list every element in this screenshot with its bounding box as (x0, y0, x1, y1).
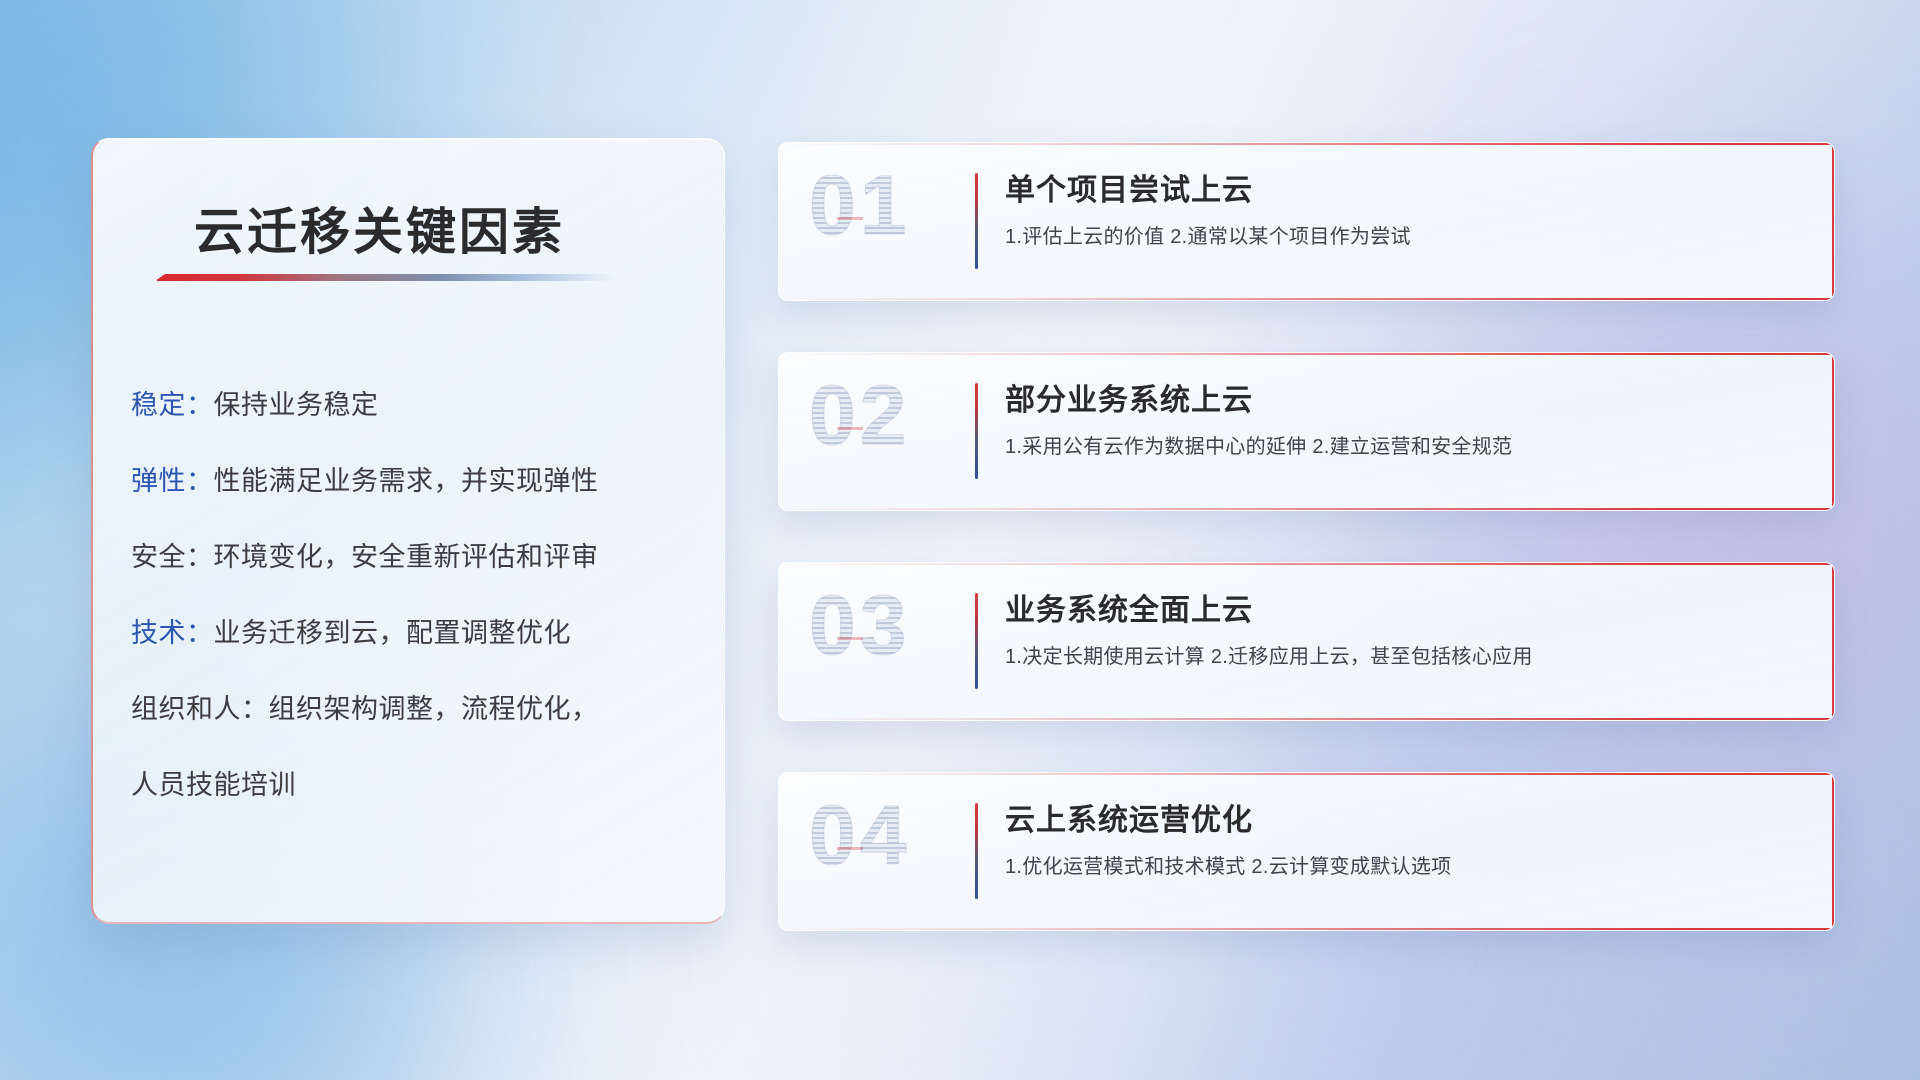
list-item: 组织和人：组织架构调整，流程优化， (131, 671, 698, 747)
step-text-block: 云上系统运营优化 1.优化运营模式和技术模式 2.云计算变成默认选项 (1005, 795, 1804, 887)
list-item-text: 环境变化，安全重新评估和评审 (214, 542, 599, 572)
card-bottom-accent-line (779, 928, 1834, 930)
step-title: 业务系统全面上云 (1005, 585, 1804, 637)
card-bottom-accent-line (779, 508, 1834, 510)
list-item-key: 安全： (131, 542, 214, 572)
key-factors-card: 云迁移关键因素 稳定：保持业务稳定 弹性：性能满足业务需求，并实现弹性 安全：环… (91, 138, 725, 924)
list-item-key: 弹性： (131, 466, 214, 496)
step-number-04: 04 (809, 787, 910, 884)
list-item-text: 保持业务稳定 (214, 390, 379, 420)
card-right-accent-line (1832, 773, 1834, 930)
card-bottom-accent-line (779, 298, 1834, 300)
step-text-block: 业务系统全面上云 1.决定长期使用云计算 2.迁移应用上云，甚至包括核心应用 (1005, 585, 1804, 677)
list-item-key: 组织和人： (131, 694, 269, 724)
step-number-02: 02 (809, 367, 910, 464)
step-divider-bar (975, 593, 978, 689)
step-card-03[interactable]: 03 03 业务系统全面上云 1.决定长期使用云计算 2.迁移应用上云，甚至包括… (778, 562, 1835, 721)
list-item: 技术：业务迁移到云，配置调整优化 (131, 595, 698, 671)
list-item: 弹性：性能满足业务需求，并实现弹性 (131, 443, 698, 519)
card-right-accent-line (1832, 143, 1834, 300)
list-item-text: 性能满足业务需求，并实现弹性 (214, 466, 599, 496)
step-divider-bar (975, 383, 978, 479)
step-card-01[interactable]: 01 01 单个项目尝试上云 1.评估上云的价值 2.通常以某个项目作为尝试 (778, 142, 1835, 301)
list-item: 稳定：保持业务稳定 (131, 367, 698, 443)
step-title: 单个项目尝试上云 (1005, 165, 1804, 217)
list-item-key: 技术： (131, 618, 214, 648)
card-right-accent-line (1832, 353, 1834, 510)
step-number-03: 03 (809, 577, 910, 674)
key-factors-list: 稳定：保持业务稳定 弹性：性能满足业务需求，并实现弹性 安全：环境变化，安全重新… (131, 367, 698, 823)
card-top-accent-line (779, 143, 1834, 145)
step-title: 部分业务系统上云 (1005, 375, 1804, 427)
list-item-text: 人员技能培训 (131, 770, 296, 800)
number-red-fleck (837, 217, 863, 220)
step-divider-bar (975, 803, 978, 899)
step-description: 1.决定长期使用云计算 2.迁移应用上云，甚至包括核心应用 (1005, 637, 1804, 677)
step-description: 1.评估上云的价值 2.通常以某个项目作为尝试 (1005, 217, 1804, 257)
card-top-accent-line (779, 563, 1834, 565)
number-red-fleck (837, 847, 863, 850)
number-red-fleck (837, 637, 863, 640)
step-card-02[interactable]: 02 02 部分业务系统上云 1.采用公有云作为数据中心的延伸 2.建立运营和安… (778, 352, 1835, 511)
card-bottom-accent-line (779, 718, 1834, 720)
step-number-01: 01 (809, 157, 910, 254)
step-title: 云上系统运营优化 (1005, 795, 1804, 847)
card-top-accent-line (779, 773, 1834, 775)
number-red-fleck (837, 427, 863, 430)
title-underline-rule (155, 274, 615, 281)
list-item-text: 组织架构调整，流程优化， (269, 694, 599, 724)
card-top-accent-line (779, 353, 1834, 355)
step-text-block: 单个项目尝试上云 1.评估上云的价值 2.通常以某个项目作为尝试 (1005, 165, 1804, 257)
step-card-04[interactable]: 04 04 云上系统运营优化 1.优化运营模式和技术模式 2.云计算变成默认选项 (778, 772, 1835, 931)
step-description: 1.采用公有云作为数据中心的延伸 2.建立运营和安全规范 (1005, 427, 1804, 467)
step-divider-bar (975, 173, 978, 269)
list-item: 安全：环境变化，安全重新评估和评审 (131, 519, 698, 595)
list-item-key: 稳定： (131, 390, 214, 420)
slide-stage: 云迁移关键因素 稳定：保持业务稳定 弹性：性能满足业务需求，并实现弹性 安全：环… (0, 0, 1920, 1080)
step-description: 1.优化运营模式和技术模式 2.云计算变成默认选项 (1005, 847, 1804, 887)
list-item-text: 业务迁移到云，配置调整优化 (214, 618, 572, 648)
list-item: 人员技能培训 (131, 747, 698, 823)
card-right-accent-line (1832, 563, 1834, 720)
page-title: 云迁移关键因素 (194, 192, 565, 264)
step-text-block: 部分业务系统上云 1.采用公有云作为数据中心的延伸 2.建立运营和安全规范 (1005, 375, 1804, 467)
